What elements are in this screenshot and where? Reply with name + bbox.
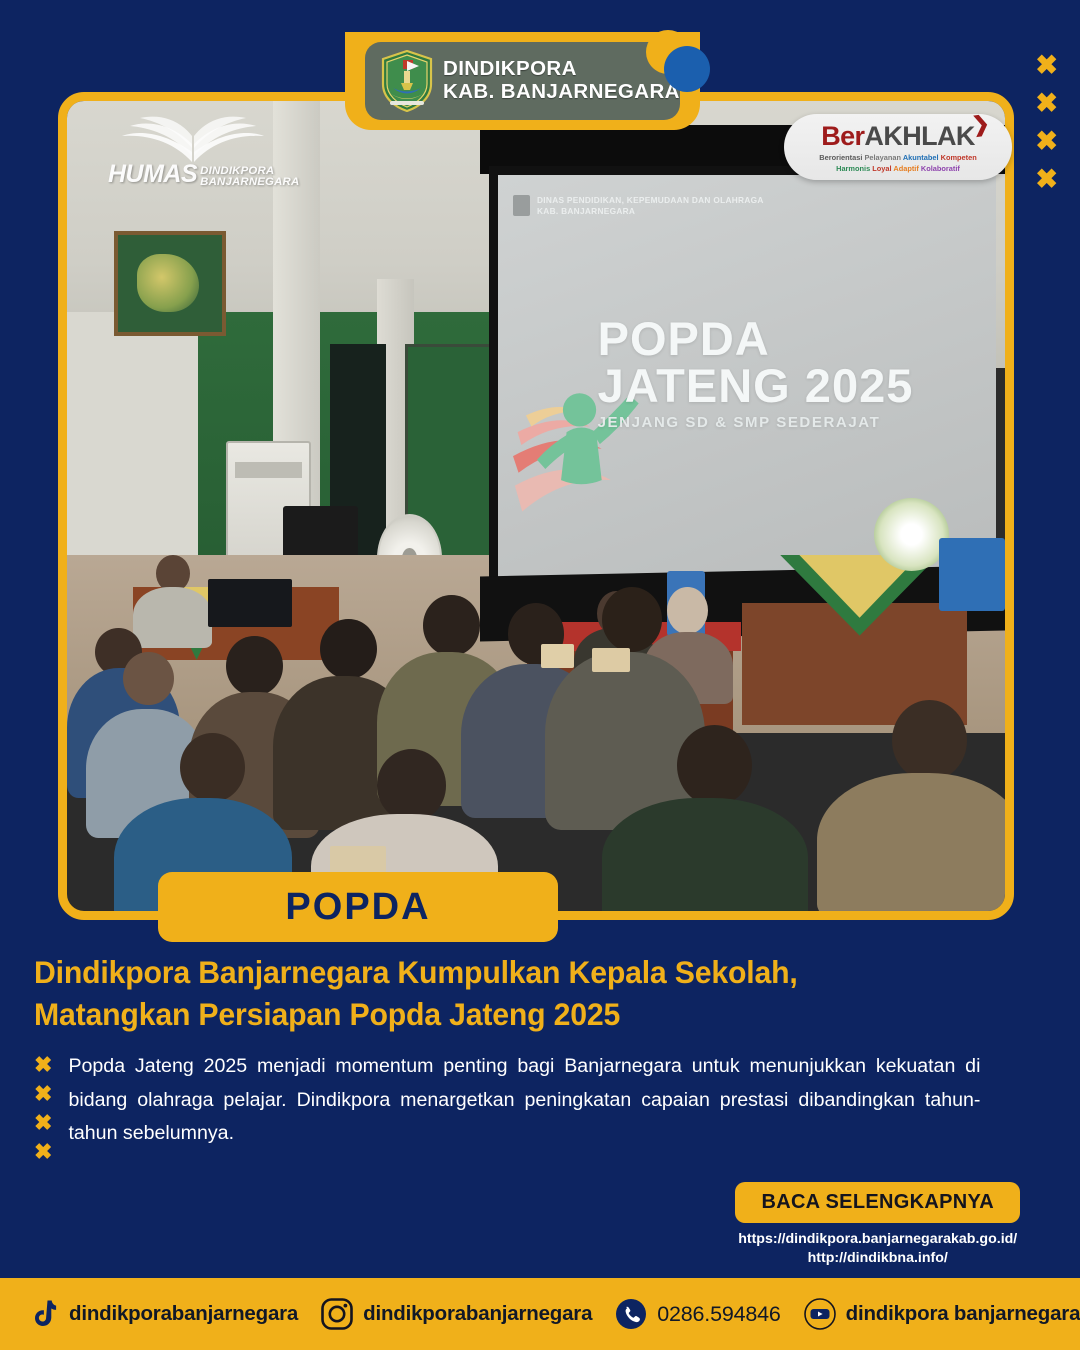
x-decoration-icon: ✖ — [34, 1112, 52, 1134]
attendee-head — [677, 725, 752, 806]
slide-title: POPDA JATENG 2025 JENJANG SD & SMP SEDER… — [598, 315, 914, 430]
header-badge-line1: DINDIKPORA — [443, 58, 680, 81]
banjarnegara-regency-crest-icon — [381, 50, 433, 112]
attendee-head — [226, 636, 282, 696]
box-snack — [541, 644, 575, 668]
poster-canvas: ✖ ✖ ✖ ✖ DINDIKPOR — [0, 0, 1080, 1350]
youtube-icon — [803, 1297, 837, 1331]
header-badge-inner: DINDIKPORA KAB. BANJARNEGARA — [365, 42, 680, 120]
attendee-body — [133, 587, 213, 648]
slide-organization-header: DINAS PENDIDIKAN, KEPEMUDAAN DAN OLAHRAG… — [513, 195, 764, 217]
x-decoration-icon: ✖ — [34, 1054, 52, 1076]
tiktok-handle: dindikporabanjarnegara — [69, 1302, 298, 1326]
flower-vase — [874, 498, 949, 571]
value-adaptif: Adaptif — [893, 164, 918, 173]
value-pelayanan: Pelayanan — [864, 153, 901, 162]
x-decoration-icon: ✖ — [1035, 166, 1058, 193]
slide-subtitle: JENJANG SD & SMP SEDERAJAT — [598, 415, 914, 430]
x-decoration-icon: ✖ — [34, 1083, 52, 1105]
cta-section: BACA SELENGKAPNYA https://dindikpora.ban… — [735, 1182, 1020, 1267]
phone-number: 0286.594846 — [657, 1302, 780, 1327]
tiktok-icon — [26, 1297, 60, 1331]
slide-title-line2: JATENG 2025 — [598, 362, 914, 409]
attendee-head — [123, 652, 174, 705]
social-footer-bar: dindikporabanjarnegara dindikporabanjarn… — [0, 1278, 1080, 1350]
value-kompeten: Kompeten — [941, 153, 977, 162]
berakhlak-prefix: Ber — [821, 121, 864, 151]
attendee-head — [892, 700, 967, 781]
blue-chair — [939, 538, 1005, 611]
wall-painting — [114, 231, 227, 336]
berakhlak-values-line1: Berorientasi Pelayanan Akuntabel Kompete… — [819, 153, 977, 163]
humas-main-text: HUMAS — [108, 160, 197, 189]
website-url-secondary[interactable]: http://dindikbna.info/ — [735, 1249, 1020, 1268]
slide-org-line2: KAB. BANJARNEGARA — [537, 206, 764, 217]
header-badge-line2: KAB. BANJARNEGARA — [443, 81, 680, 104]
header-badge-text: DINDIKPORA KAB. BANJARNEGARA — [443, 58, 680, 104]
read-more-button[interactable]: BACA SELENGKAPNYA — [735, 1182, 1020, 1223]
x-decoration-icon: ✖ — [1035, 52, 1058, 79]
right-edge-x-decorations: ✖ ✖ ✖ ✖ — [1035, 52, 1058, 193]
attendee-head — [320, 619, 376, 679]
event-photo: DINAS PENDIDIKAN, KEPEMUDAAN DAN OLAHRAG… — [67, 101, 1005, 911]
value-harmonis: Harmonis — [836, 164, 870, 173]
box-snack — [592, 648, 630, 672]
instagram-icon — [320, 1297, 354, 1331]
berakhlak-logo: BerAKHLAK❯ Berorientasi Pelayanan Akunta… — [784, 114, 1012, 180]
value-akuntabel: Akuntabel — [903, 153, 939, 162]
value-berorientasi: Berorientasi — [819, 153, 862, 162]
attendee-head — [602, 587, 662, 652]
footer-item-phone[interactable]: 0286.594846 — [614, 1297, 780, 1331]
chevron-right-icon: ❯ — [970, 114, 990, 138]
attendee-head — [423, 595, 479, 656]
speaker-head — [667, 587, 707, 634]
berakhlak-values-line2: Harmonis Loyal Adaptif Kolaboratif — [836, 164, 960, 174]
website-url-primary[interactable]: https://dindikpora.banjarnegarakab.go.id… — [735, 1230, 1020, 1249]
slide-org-line1: DINAS PENDIDIKAN, KEPEMUDAAN DAN OLAHRAG… — [537, 195, 764, 206]
popda-label-text: POPDA — [285, 886, 430, 929]
cta-urls: https://dindikpora.banjarnegarakab.go.id… — [735, 1230, 1020, 1267]
footer-item-instagram[interactable]: dindikporabanjarnegara — [320, 1297, 592, 1331]
attendee-head — [377, 749, 446, 822]
berakhlak-wordmark: BerAKHLAK❯ — [821, 121, 975, 152]
slide-title-line1: POPDA — [598, 315, 914, 362]
attendee-head — [180, 733, 246, 803]
humas-sub-line2: BANJARNEGARA — [200, 177, 299, 189]
body-section: ✖ ✖ ✖ ✖ Popda Jateng 2025 menjadi moment… — [34, 1050, 994, 1163]
photo-frame: DINAS PENDIDIKAN, KEPEMUDAAN DAN OLAHRAG… — [58, 92, 1014, 920]
x-decoration-icon: ✖ — [34, 1141, 52, 1163]
x-decoration-icon: ✖ — [1035, 90, 1058, 117]
youtube-handle: dindikpora banjarnegara — [846, 1302, 1080, 1326]
berakhlak-suffix: AKHLAK — [864, 121, 974, 151]
body-paragraph: Popda Jateng 2025 menjadi momentum penti… — [68, 1050, 980, 1163]
page-title: Dindikpora Banjarnegara Kumpulkan Kepala… — [34, 952, 956, 1036]
instagram-handle: dindikporabanjarnegara — [363, 1302, 592, 1326]
slide-crest-icon — [513, 195, 530, 216]
blue-circle-decoration-icon — [664, 46, 710, 92]
value-kolaboratif: Kolaboratif — [921, 164, 960, 173]
x-decoration-icon: ✖ — [1035, 128, 1058, 155]
humas-logo: HUMAS DINDIKPORA BANJARNEGARA — [108, 112, 283, 189]
footer-item-youtube[interactable]: dindikpora banjarnegara — [803, 1297, 1080, 1331]
open-book-icon — [108, 112, 280, 164]
footer-item-tiktok[interactable]: dindikporabanjarnegara — [26, 1297, 298, 1331]
attendee-body — [817, 773, 1005, 911]
attendee-body — [602, 798, 808, 911]
popda-category-label: POPDA — [158, 872, 558, 942]
value-loyal: Loyal — [872, 164, 891, 173]
phone-icon — [614, 1297, 648, 1331]
laptop — [208, 579, 292, 628]
body-x-decorations: ✖ ✖ ✖ ✖ — [34, 1050, 52, 1163]
